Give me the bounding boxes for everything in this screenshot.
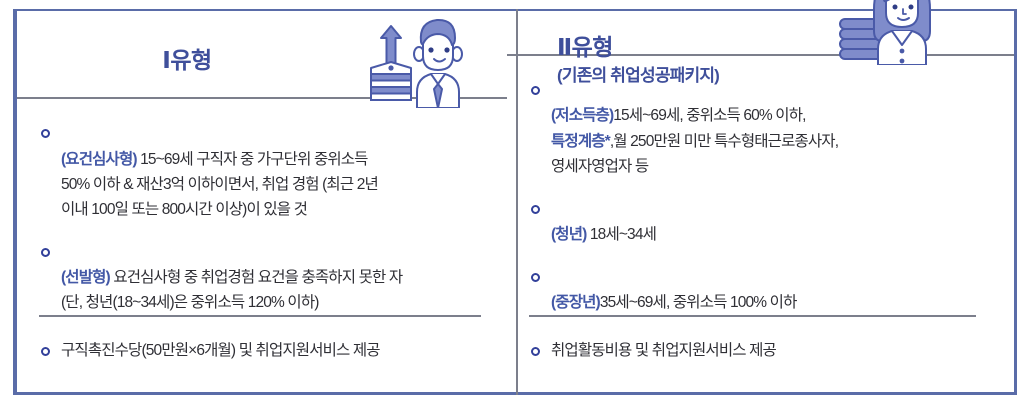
panel-type-2-benefit: 취업활동비용 및 취업지원서비스 제공	[529, 339, 996, 364]
list-item-tag: (청년)	[551, 226, 586, 243]
bullet-dot-icon	[531, 347, 540, 356]
list-item-tag: (중장년)	[551, 294, 600, 311]
bullet-dot-icon	[41, 347, 50, 356]
list-item: (선발형) 요건심사형 중 취업경험 요건을 충족하지 못한 자 (단, 청년(…	[39, 240, 489, 315]
panel-type-1-body: (요건심사형) 15~69세 구직자 중 가구단위 중위소득 50% 이하 & …	[17, 99, 507, 315]
panel-type-1-benefit: 구직촉진수당(50만원×6개월) 및 취업지원서비스 제공	[39, 339, 489, 364]
panel-type-1-title-wrap: Ⅰ유형	[17, 47, 507, 73]
bullet-dot-icon	[531, 273, 540, 282]
panel-container: Ⅰ유형	[13, 9, 1017, 395]
list-item-tag: (선발형)	[61, 269, 110, 286]
panel-type-1-bullet-list: (요건심사형) 15~69세 구직자 중 가구단위 중위소득 50% 이하 & …	[39, 121, 489, 315]
list-item-tag-secondary: 특정계층*	[551, 133, 610, 150]
benefit-text: 취업활동비용 및 취업지원서비스 제공	[551, 342, 776, 359]
list-item-tag: (요건심사형)	[61, 151, 137, 168]
bullet-dot-icon	[41, 129, 50, 138]
panel-type-1-title: Ⅰ유형	[17, 47, 357, 73]
list-item-text: 18세~34세	[586, 226, 656, 243]
panel-type-2-bullet-list: (저소득층)15세~69세, 중위소득 60% 이하,특정계층*,월 250만원…	[529, 78, 996, 315]
bullet-dot-icon	[531, 86, 540, 95]
footer-divider	[39, 315, 481, 317]
list-item-text: 요건심사형 중 취업경험 요건을 충족하지 못한 자 (단, 청년(18~34세…	[61, 269, 402, 311]
panel-type-1-header: Ⅰ유형	[17, 11, 507, 99]
list-item-text: 15세~69세, 중위소득 60% 이하,	[613, 107, 805, 124]
list-item: (저소득층)15세~69세, 중위소득 60% 이하,특정계층*,월 250만원…	[529, 78, 996, 178]
panel-type-2-header: Ⅱ유형 (기존의 취업성공패키지)	[507, 11, 1014, 56]
list-item-text: 35세~69세, 중위소득 100% 이하	[600, 294, 797, 311]
panel-center-divider	[516, 9, 518, 395]
panel-type-1: Ⅰ유형	[13, 11, 507, 392]
coin-stack-icon	[840, 19, 884, 59]
benefit-text: 구직촉진수당(50만원×6개월) 및 취업지원서비스 제공	[61, 342, 380, 359]
footer-divider	[529, 315, 976, 317]
panel-type-2-body: (저소득층)15세~69세, 중위소득 60% 이하,특정계층*,월 250만원…	[507, 56, 1014, 315]
list-item: (청년) 18세~34세	[529, 197, 996, 247]
panel-type-2-footer: 취업활동비용 및 취업지원서비스 제공	[507, 315, 1014, 364]
bullet-dot-icon	[531, 205, 540, 214]
employment-support-type-comparison-infographic: Ⅰ유형	[0, 0, 1030, 406]
bullet-dot-icon	[41, 248, 50, 257]
panel-type-2: Ⅱ유형 (기존의 취업성공패키지)	[507, 11, 1017, 392]
panel-type-1-footer: 구직촉진수당(50만원×6개월) 및 취업지원서비스 제공	[17, 315, 507, 364]
list-item-tag: (저소득층)	[551, 107, 613, 124]
list-item: (요건심사형) 15~69세 구직자 중 가구단위 중위소득 50% 이하 & …	[39, 121, 489, 221]
list-item: (중장년)35세~69세, 중위소득 100% 이하	[529, 265, 996, 315]
